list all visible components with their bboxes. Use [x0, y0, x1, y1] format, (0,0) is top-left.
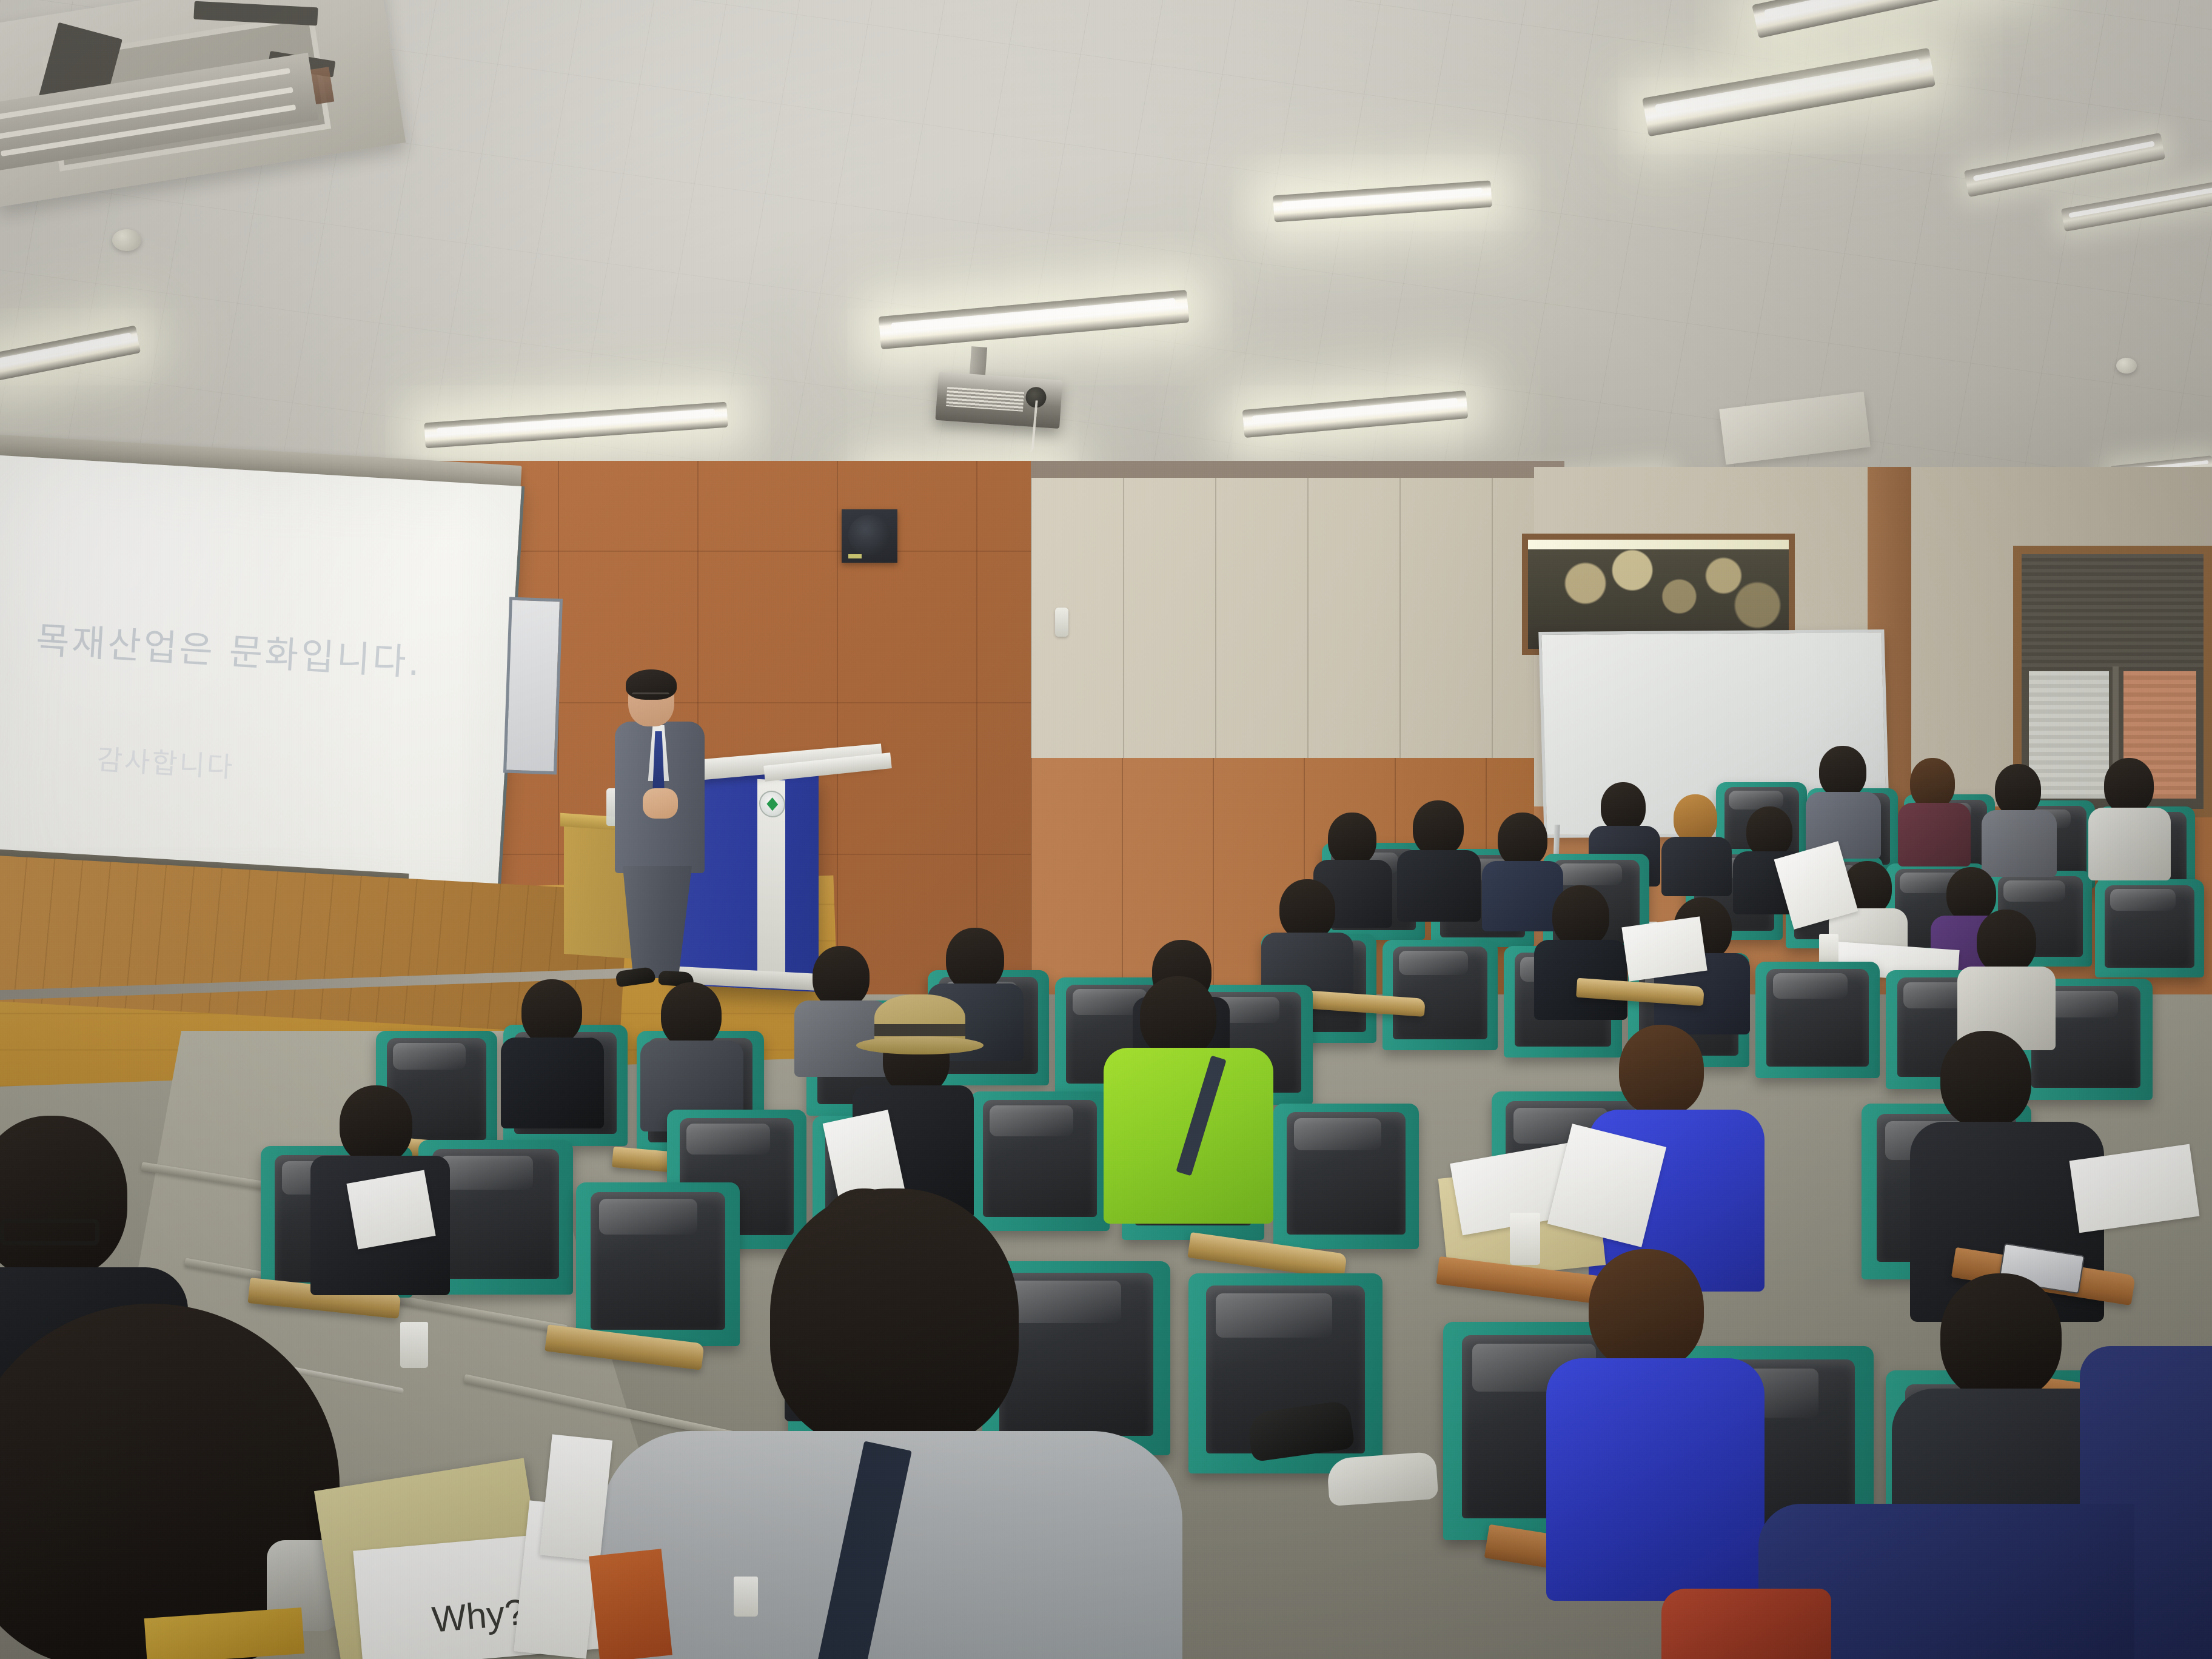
- handout-text: Why?: [431, 1591, 527, 1641]
- smoke-detector-2-icon: [2116, 358, 2137, 374]
- seat-row6-e[interactable]: [1273, 1104, 1419, 1249]
- wall-speaker-icon: [842, 509, 897, 563]
- fedora-hat-icon: [874, 994, 965, 1048]
- paper-cup-5: [734, 1577, 758, 1617]
- seat-row2-e[interactable]: [2095, 879, 2204, 977]
- seat-row4-b[interactable]: [1382, 940, 1498, 1050]
- bookmark-slip-2: [540, 1434, 612, 1561]
- eyeglasses-icon: [0, 1219, 99, 1245]
- slide-subline: 감사합니다: [96, 737, 463, 799]
- light-switch-icon[interactable]: [1055, 608, 1068, 637]
- side-notice-board: [503, 597, 563, 775]
- lecture-hall-photo: 목재산업은 문화입니다. 감사합니다: [0, 0, 2212, 1659]
- right-window-desc: window with raised blind, brick building…: [0, 0, 13, 1]
- acoustic-panel-wall: [1031, 478, 1564, 763]
- ceiling-projector-icon: [935, 372, 1062, 429]
- orange-booklet: [589, 1549, 672, 1659]
- presenter-glasses-icon: [632, 692, 669, 703]
- seat-near-c[interactable]: [576, 1182, 740, 1346]
- presenter: [612, 673, 722, 988]
- foreground-red-garment: [1661, 1589, 1831, 1659]
- paper-cup-4: [400, 1322, 428, 1368]
- seat-row4-e[interactable]: [1755, 962, 1880, 1078]
- paper-cup-3: [1510, 1213, 1540, 1265]
- handout-near-1: [346, 1170, 435, 1250]
- shoe-2: [1326, 1452, 1438, 1506]
- paper-cup-2: [1819, 934, 1838, 965]
- projection-screen: 목재산업은 문화입니다. 감사합니다: [0, 455, 525, 913]
- seat-row6-c[interactable]: [970, 1091, 1110, 1231]
- smoke-detector-icon: [112, 229, 141, 251]
- handout-mid-1: [1621, 916, 1707, 981]
